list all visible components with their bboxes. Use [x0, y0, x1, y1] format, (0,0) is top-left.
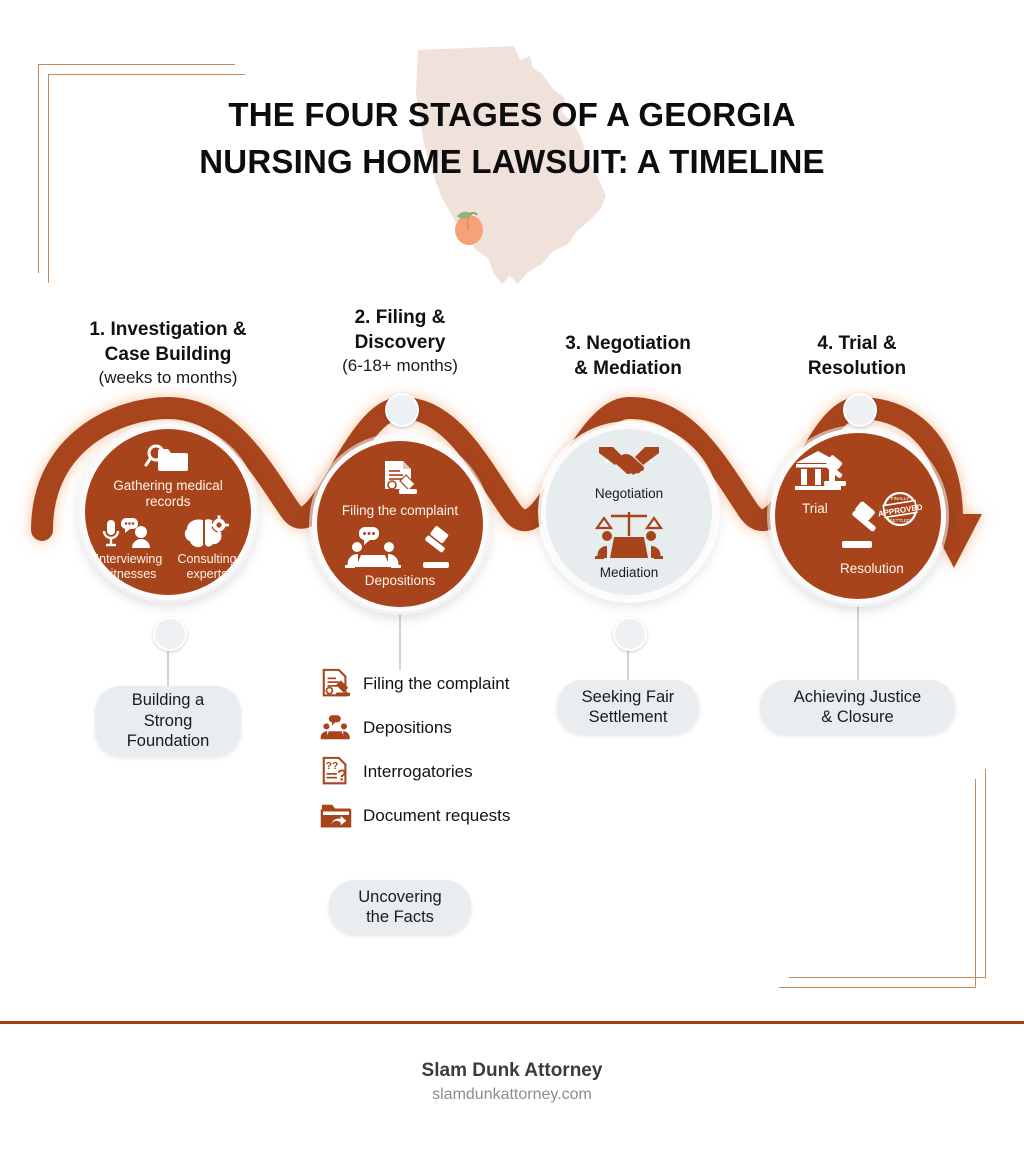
- stage-circle-4[interactable]: Trial APPROVED FINALLY SETTLED Resolutio…: [770, 428, 946, 604]
- list-item[interactable]: Document requests: [320, 800, 550, 832]
- footer: Slam Dunk Attorney slamdunkattorney.com: [0, 1060, 1024, 1104]
- stage-heading-3-line2: & Mediation: [528, 357, 728, 382]
- stage-pill-3-line2: Settlement: [589, 707, 668, 727]
- question-document-icon: ?? ?: [320, 756, 352, 788]
- stage-heading-1: 1. Investigation & Case Building (weeks …: [58, 318, 278, 389]
- scales-mediation-icon: [593, 510, 665, 562]
- stage-circle-2-item-1-label: Depositions: [365, 573, 436, 589]
- stage-heading-1-line1: 1. Investigation &: [58, 318, 278, 343]
- title-line-1: THE FOUR STAGES OF A GEORGIA: [0, 92, 1024, 139]
- list-item-label: Depositions: [363, 718, 452, 738]
- footer-brand: Slam Dunk Attorney: [0, 1060, 1024, 1082]
- stage-node-1: [153, 617, 187, 651]
- folder-share-icon: [320, 800, 352, 832]
- stage-circle-1-item-0-label: Gathering medical records: [98, 478, 238, 509]
- deposition-table-icon: [343, 525, 409, 571]
- stage-node-2-top: [385, 393, 419, 427]
- list-item[interactable]: Depositions: [320, 712, 550, 744]
- stage-pill-2-line1: Uncovering: [358, 887, 441, 907]
- stage-pill-1-line2: Strong: [144, 711, 193, 731]
- svg-text:SETTLED: SETTLED: [890, 518, 911, 523]
- list-item-label: Filing the complaint: [363, 674, 509, 694]
- document-stamp-icon: [379, 459, 421, 499]
- stage-circle-4-item-0-label: Trial: [802, 501, 828, 517]
- stage-duration-2: (6-18+ months): [300, 355, 500, 377]
- footer-divider: [0, 1021, 1024, 1024]
- stage-node-3: [613, 617, 647, 651]
- corner-frame-bottom-right-inner: [779, 779, 976, 988]
- handshake-icon: [597, 443, 661, 481]
- stage-heading-2-line1: 2. Filing &: [300, 306, 500, 331]
- page-title: THE FOUR STAGES OF A GEORGIA NURSING HOM…: [0, 92, 1024, 186]
- list-item-label: Interrogatories: [363, 762, 473, 782]
- gavel-approved-stamp-icon: APPROVED FINALLY SETTLED: [836, 491, 920, 557]
- stage-pill-4-line1: Achieving Justice: [794, 687, 921, 707]
- list-item-label: Document requests: [363, 806, 510, 826]
- brain-gear-icon: [183, 516, 231, 550]
- stage-duration-1: (weeks to months): [58, 367, 278, 389]
- svg-text:?: ?: [337, 767, 347, 784]
- stage-circle-1-item-1-label: Interviewing witnesses: [94, 552, 164, 581]
- stage-circle-1-item-2-label: Consulting experts: [172, 552, 242, 581]
- stage-heading-3-line1: 3. Negotiation: [528, 332, 728, 357]
- footer-website[interactable]: slamdunkattorney.com: [0, 1086, 1024, 1104]
- stage-circle-3[interactable]: Negotiation Mediation: [541, 424, 717, 600]
- stage-circle-2[interactable]: Filing the complaint: [312, 436, 488, 612]
- stage-circle-3-item-0-label: Negotiation: [595, 486, 663, 502]
- deposition-table-icon: [320, 712, 352, 744]
- stage-heading-2: 2. Filing & Discovery (6-18+ months): [300, 306, 500, 377]
- list-item[interactable]: ?? ? Interrogatories: [320, 756, 550, 788]
- discovery-list: Filing the complaint Depositions ??: [320, 668, 550, 844]
- microphone-interview-icon: [103, 516, 155, 550]
- folder-search-icon: [146, 443, 190, 475]
- stage-circle-1-item-1: Interviewing witnesses: [94, 516, 164, 581]
- stage-circle-1-item-2: Consulting experts: [172, 516, 242, 581]
- stage-circle-4-item-1-label: Resolution: [840, 561, 904, 577]
- stage-pill-1[interactable]: Building a Strong Foundation: [95, 686, 241, 756]
- stage-stem-2: [399, 614, 401, 670]
- stage-heading-2-line2: Discovery: [300, 331, 500, 356]
- stage-heading-4-line1: 4. Trial &: [757, 332, 957, 357]
- stage-pill-1-line1: Building a: [132, 690, 204, 710]
- stage-circle-2-item-0-label: Filing the complaint: [342, 503, 458, 519]
- stage-heading-1-line2: Case Building: [58, 343, 278, 368]
- title-line-2: NURSING HOME LAWSUIT: A TIMELINE: [0, 139, 1024, 186]
- stage-stem-4: [857, 606, 859, 682]
- document-stamp-icon: [320, 668, 352, 700]
- courthouse-gavel-icon: [794, 449, 856, 497]
- stage-circle-3-item-1-label: Mediation: [600, 565, 659, 581]
- stage-pill-2[interactable]: Uncovering the Facts: [329, 880, 471, 934]
- stage-heading-4: 4. Trial & Resolution: [757, 332, 957, 381]
- stage-pill-2-line2: the Facts: [366, 907, 434, 927]
- stage-pill-3-line1: Seeking Fair: [582, 687, 675, 707]
- stage-heading-3: 3. Negotiation & Mediation: [528, 332, 728, 381]
- stage-node-4-top: [843, 393, 877, 427]
- stage-pill-4-line2: & Closure: [821, 707, 893, 727]
- stage-pill-4[interactable]: Achieving Justice & Closure: [760, 680, 955, 734]
- list-item[interactable]: Filing the complaint: [320, 668, 550, 700]
- stage-pill-1-line3: Foundation: [127, 731, 210, 751]
- stage-pill-3[interactable]: Seeking Fair Settlement: [557, 680, 699, 734]
- gavel-icon: [417, 527, 457, 571]
- stage-heading-4-line2: Resolution: [757, 357, 957, 382]
- svg-text:FINALLY: FINALLY: [891, 496, 909, 501]
- stage-circle-1[interactable]: Gathering medical records Intervi: [80, 424, 256, 600]
